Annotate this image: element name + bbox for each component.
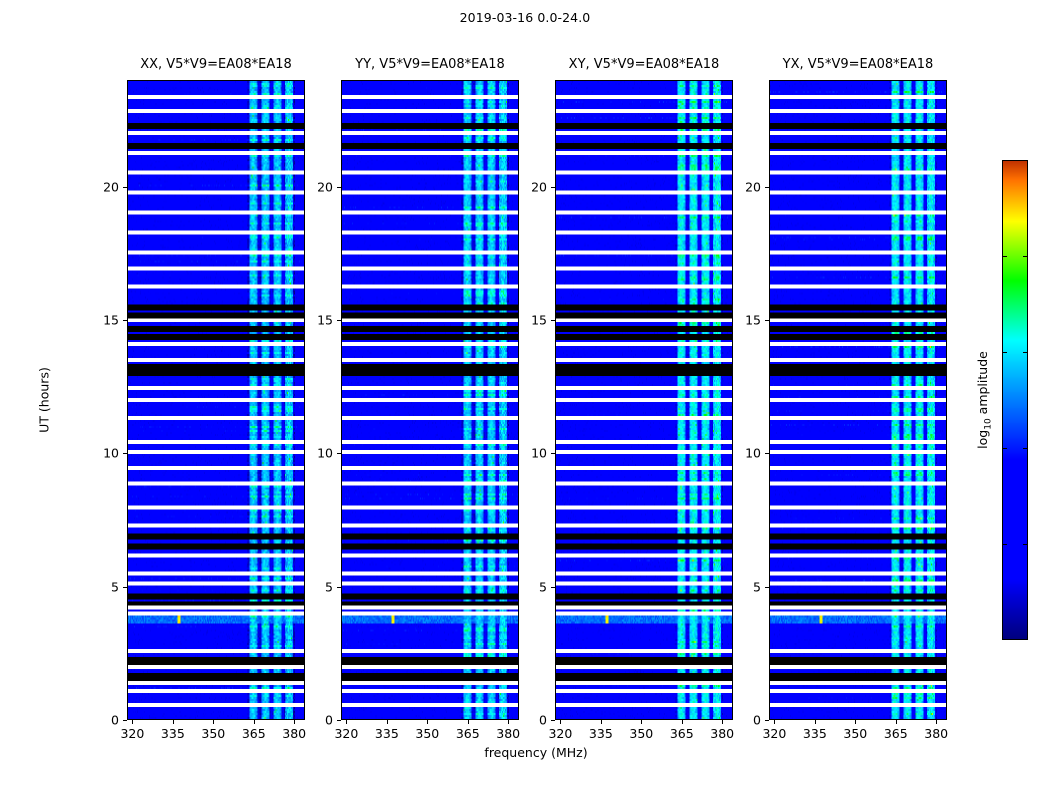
colorbar-tick-mark [1023, 256, 1028, 257]
x-tick-label: 380 [496, 726, 520, 741]
x-tick-mark [254, 720, 255, 724]
x-tick-mark [936, 720, 937, 724]
x-tick-label: 350 [629, 726, 653, 741]
y-tick-label: 20 [727, 179, 761, 194]
x-tick-mark [132, 720, 133, 724]
x-tick-label: 365 [670, 726, 694, 741]
y-tick-mark [337, 587, 341, 588]
waterfall-panel-yy: YY, V5*V9=EA08*EA18 [341, 80, 519, 720]
colorbar-tick-mark [1002, 544, 1007, 545]
y-tick-label: 10 [299, 446, 333, 461]
waterfall-panel-xx: XX, V5*V9=EA08*EA18 [127, 80, 305, 720]
y-tick-label: 20 [85, 179, 119, 194]
x-tick-mark [560, 720, 561, 724]
y-tick-label: 20 [513, 179, 547, 194]
y-tick-mark [765, 720, 769, 721]
waterfall-image-yx [770, 81, 946, 719]
colorbar [1002, 160, 1028, 640]
colorbar-tick-mark [1023, 448, 1028, 449]
y-tick-label: 5 [513, 579, 547, 594]
y-tick-mark [551, 587, 555, 588]
colorbar-tick-mark [1002, 448, 1007, 449]
y-tick-label: 15 [85, 313, 119, 328]
x-tick-label: 380 [924, 726, 948, 741]
waterfall-panel-xy: XY, V5*V9=EA08*EA18 [555, 80, 733, 720]
y-tick-label: 5 [727, 579, 761, 594]
x-axis-label: frequency (MHz) [484, 745, 587, 760]
x-tick-label: 335 [589, 726, 613, 741]
x-tick-mark [855, 720, 856, 724]
y-tick-mark [123, 187, 127, 188]
x-tick-mark [896, 720, 897, 724]
y-tick-label: 20 [299, 179, 333, 194]
x-tick-mark [641, 720, 642, 724]
y-tick-mark [123, 453, 127, 454]
waterfall-image-xy [556, 81, 732, 719]
waterfall-panel-yx: YX, V5*V9=EA08*EA18 [769, 80, 947, 720]
x-tick-mark [294, 720, 295, 724]
y-tick-mark [337, 320, 341, 321]
colorbar-tick-mark [1023, 544, 1028, 545]
y-tick-mark [123, 720, 127, 721]
waterfall-image-xx [128, 81, 304, 719]
figure-suptitle: 2019-03-16 0.0-24.0 [0, 10, 1050, 25]
colorbar-tick-mark [1002, 256, 1007, 257]
y-tick-mark [337, 187, 341, 188]
x-tick-mark [427, 720, 428, 724]
y-tick-label: 10 [513, 446, 547, 461]
y-tick-mark [551, 187, 555, 188]
colorbar-label: log10 amplitude [975, 351, 994, 449]
y-tick-mark [765, 453, 769, 454]
x-tick-label: 320 [762, 726, 786, 741]
colorbar-tick-mark [1002, 352, 1007, 353]
y-tick-label: 10 [85, 446, 119, 461]
x-tick-label: 335 [161, 726, 185, 741]
panel-title-yx: YX, V5*V9=EA08*EA18 [730, 57, 986, 72]
x-tick-label: 335 [803, 726, 827, 741]
x-tick-label: 350 [415, 726, 439, 741]
x-tick-mark [173, 720, 174, 724]
x-tick-label: 320 [548, 726, 572, 741]
waterfall-image-yy [342, 81, 518, 719]
y-tick-mark [765, 187, 769, 188]
colorbar-label-text: log10 amplitude [975, 351, 990, 449]
x-tick-mark [682, 720, 683, 724]
x-tick-mark [508, 720, 509, 724]
x-tick-mark [468, 720, 469, 724]
y-tick-mark [123, 587, 127, 588]
figure-canvas: 2019-03-16 0.0-24.0 XX, V5*V9=EA08*EA18Y… [0, 0, 1050, 800]
x-tick-label: 365 [456, 726, 480, 741]
colorbar-tick-mark [1023, 352, 1028, 353]
y-tick-mark [551, 453, 555, 454]
x-tick-label: 335 [375, 726, 399, 741]
y-axis-label: UT (hours) [37, 367, 52, 433]
x-tick-label: 320 [120, 726, 144, 741]
y-tick-label: 5 [85, 579, 119, 594]
colorbar-gradient [1003, 161, 1027, 639]
x-tick-mark [722, 720, 723, 724]
x-tick-mark [346, 720, 347, 724]
x-tick-mark [387, 720, 388, 724]
y-tick-mark [765, 587, 769, 588]
y-tick-mark [123, 320, 127, 321]
y-tick-label: 15 [513, 313, 547, 328]
y-tick-label: 10 [727, 446, 761, 461]
x-tick-mark [815, 720, 816, 724]
x-tick-label: 365 [242, 726, 266, 741]
y-tick-label: 15 [299, 313, 333, 328]
y-tick-mark [337, 720, 341, 721]
x-tick-mark [213, 720, 214, 724]
y-tick-mark [765, 320, 769, 321]
x-tick-mark [774, 720, 775, 724]
x-tick-label: 350 [201, 726, 225, 741]
y-tick-label: 0 [85, 713, 119, 728]
y-tick-label: 5 [299, 579, 333, 594]
x-tick-label: 380 [282, 726, 306, 741]
y-tick-mark [551, 720, 555, 721]
x-tick-label: 365 [884, 726, 908, 741]
x-tick-label: 320 [334, 726, 358, 741]
x-tick-label: 380 [710, 726, 734, 741]
x-tick-mark [601, 720, 602, 724]
y-tick-mark [337, 453, 341, 454]
y-tick-label: 15 [727, 313, 761, 328]
y-tick-mark [551, 320, 555, 321]
x-tick-label: 350 [843, 726, 867, 741]
